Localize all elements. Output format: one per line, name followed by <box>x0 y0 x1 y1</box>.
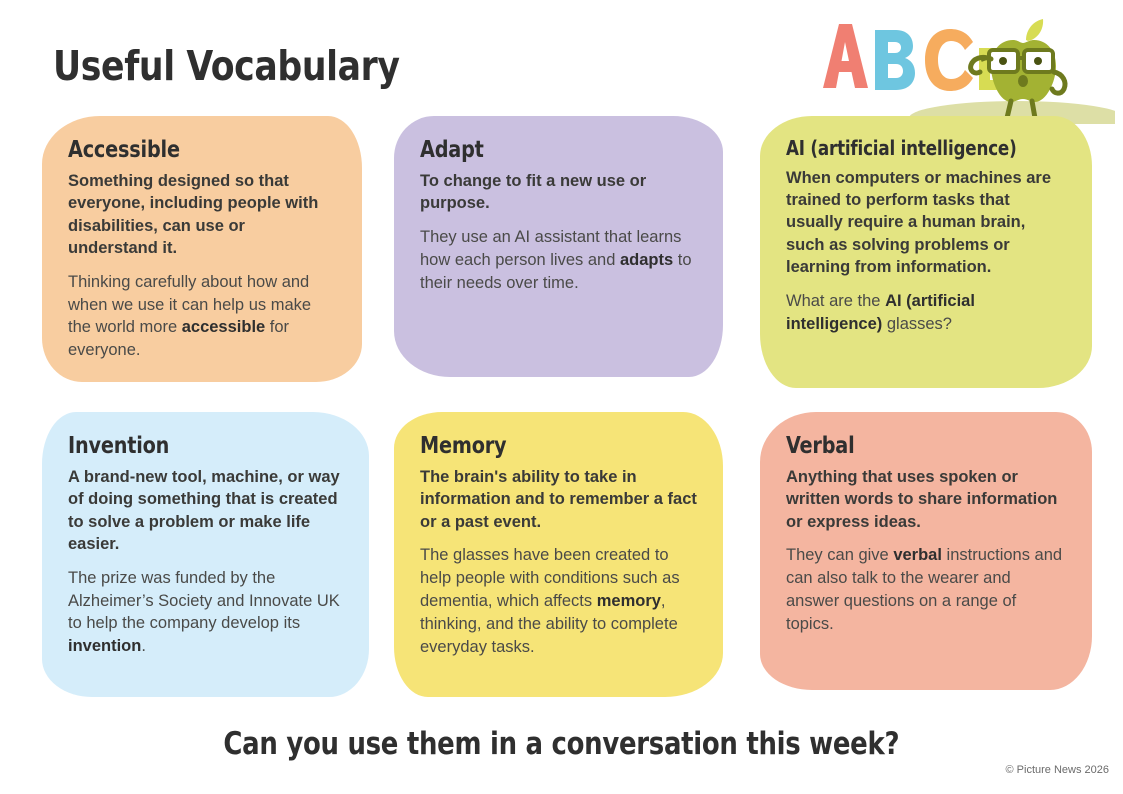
vocab-card-ai: AI (artificial intelligence) When comput… <box>760 116 1092 388</box>
logo-letter-b <box>875 30 915 90</box>
vocabulary-card-grid: Accessible Something designed so that ev… <box>0 112 1123 712</box>
card-definition-adapt: To change to fit a new use or purpose. <box>420 170 697 215</box>
card-term-adapt: Adapt <box>420 138 678 163</box>
logo-letter-a <box>823 24 868 88</box>
card-example-adapt: They use an AI assistant that learns how… <box>420 226 697 295</box>
apple-eye-left <box>999 57 1007 65</box>
card-definition-ai: When computers or machines are trained t… <box>786 167 1066 279</box>
footer-question: Can you use them in a conversation this … <box>0 726 1123 762</box>
poster-header: Useful Vocabulary <box>0 0 1123 112</box>
poster-footer: Can you use them in a conversation this … <box>0 712 1123 794</box>
apple-leaf <box>1026 19 1043 41</box>
vocabulary-poster: Useful Vocabulary <box>0 0 1123 794</box>
card-example-accessible: Thinking carefully about how and when we… <box>68 271 336 363</box>
card-example-invention: The prize was funded by the Alzheimer’s … <box>68 567 343 659</box>
card-example-ai: What are the AI (artificial intelligence… <box>786 290 1066 336</box>
vocab-card-invention: Invention A brand-new tool, machine, or … <box>42 412 369 697</box>
card-example-memory: The glasses have been created to help pe… <box>420 544 697 659</box>
card-term-verbal: Verbal <box>786 434 1046 459</box>
logo-letter-c <box>925 29 973 91</box>
card-definition-invention: A brand-new tool, machine, or way of doi… <box>68 466 343 556</box>
card-definition-verbal: Anything that uses spoken or written wor… <box>786 466 1066 533</box>
vocab-card-adapt: Adapt To change to fit a new use or purp… <box>394 116 723 377</box>
card-example-verbal: They can give verbal instructions and ca… <box>786 544 1066 636</box>
copyright-notice: © Picture News 2026 <box>1006 764 1110 776</box>
page-title: Useful Vocabulary <box>53 42 400 90</box>
vocab-card-verbal: Verbal Anything that uses spoken or writ… <box>760 412 1092 690</box>
picture-news-abcd-apple-logo <box>795 2 1115 124</box>
footer-question-text: Can you use them in a conversation this … <box>224 726 900 762</box>
card-term-ai: AI (artificial intelligence) <box>786 138 1046 160</box>
vocab-card-memory: Memory The brain's ability to take in in… <box>394 412 723 697</box>
apple-mouth <box>1018 75 1028 87</box>
vocab-card-accessible: Accessible Something designed so that ev… <box>42 116 362 382</box>
card-definition-memory: The brain's ability to take in informati… <box>420 466 697 533</box>
card-term-memory: Memory <box>420 434 678 459</box>
apple-eye-right <box>1034 57 1042 65</box>
card-definition-accessible: Something designed so that everyone, inc… <box>68 170 336 260</box>
card-term-invention: Invention <box>68 434 324 459</box>
card-term-accessible: Accessible <box>68 138 317 163</box>
